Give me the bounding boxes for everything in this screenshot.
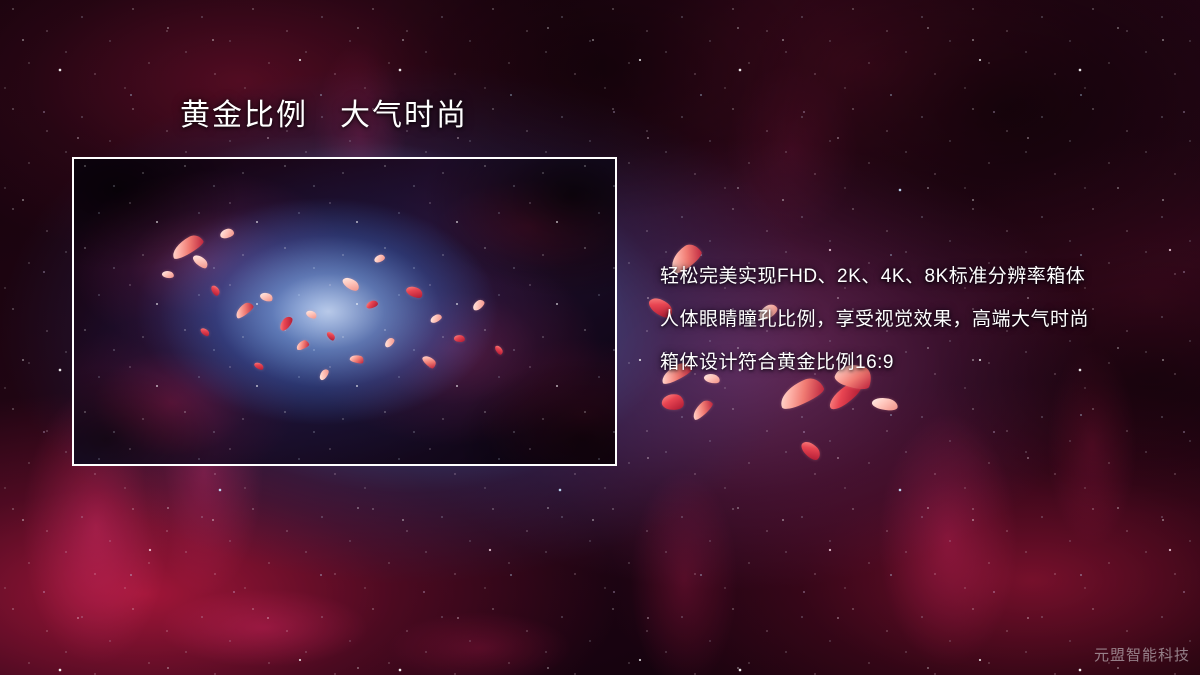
petal-shape — [799, 438, 823, 463]
petal-shape — [199, 326, 210, 337]
description-line-1: 轻松完美实现FHD、2K、4K、8K标准分辨率箱体 — [660, 255, 1180, 298]
petal-shape — [405, 284, 425, 300]
petal-shape — [429, 313, 443, 324]
petal-shape — [471, 298, 486, 312]
petal-shape — [373, 253, 386, 263]
petal-shape — [349, 353, 365, 365]
petal-shape — [191, 252, 210, 270]
slide-canvas: 黄金比例 大气时尚 轻松完美实现FHD、2K、4K、8K标准分辨率箱体 人体眼睛… — [0, 0, 1200, 675]
floating-petals-panel — [74, 159, 615, 464]
petal-shape — [305, 309, 318, 321]
petal-shape — [295, 339, 310, 351]
petal-shape — [168, 232, 205, 261]
petal-shape — [341, 275, 361, 294]
petal-shape — [871, 395, 899, 412]
petal-shape — [161, 270, 174, 279]
petal-shape — [210, 284, 221, 297]
petal-shape — [383, 336, 396, 348]
petal-shape — [219, 228, 235, 240]
petal-shape — [661, 393, 685, 412]
petal-shape — [365, 299, 378, 309]
petal-shape — [277, 315, 294, 333]
petal-shape — [233, 300, 255, 319]
description-line-3: 箱体设计符合黄金比例16:9 — [660, 341, 1180, 384]
framed-image-panel — [72, 157, 617, 466]
petal-shape — [689, 398, 714, 422]
petal-shape — [259, 291, 274, 303]
petal-shape — [318, 368, 331, 382]
petal-shape — [253, 361, 265, 372]
description-line-2: 人体眼睛瞳孔比例，享受视觉效果，高端大气时尚 — [660, 298, 1180, 341]
petal-shape — [494, 344, 504, 356]
petal-shape — [453, 334, 465, 343]
page-title: 黄金比例 大气时尚 — [180, 98, 468, 134]
description-text-block: 轻松完美实现FHD、2K、4K、8K标准分辨率箱体 人体眼睛瞳孔比例，享受视觉效… — [660, 255, 1180, 384]
petal-shape — [421, 353, 438, 370]
watermark-logo-text: 元盟智能科技 — [1094, 644, 1190, 665]
petal-shape — [326, 330, 337, 342]
